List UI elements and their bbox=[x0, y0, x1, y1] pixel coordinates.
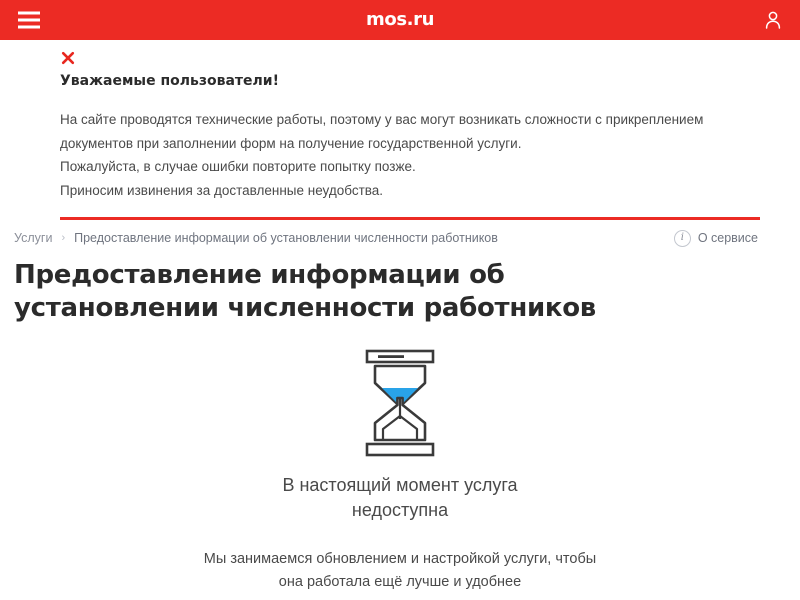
section-divider bbox=[60, 217, 760, 220]
alert-body: На сайте проводятся технические работы, … bbox=[60, 108, 760, 203]
page-title: Предоставление информации об установлени… bbox=[14, 259, 704, 326]
hamburger-bar bbox=[18, 19, 40, 22]
maintenance-alert: Уважаемые пользователи! На сайте проводя… bbox=[0, 40, 800, 220]
breadcrumb-item-current: Предоставление информации об установлени… bbox=[74, 231, 498, 245]
breadcrumb-item-services[interactable]: Услуги bbox=[14, 231, 52, 245]
site-header: mos.ru bbox=[0, 0, 800, 40]
breadcrumb: Услуги › Предоставление информации об ус… bbox=[14, 231, 498, 245]
alert-line: На сайте проводятся технические работы, … bbox=[60, 108, 740, 155]
service-unavailable-block: В настоящий момент услуга недоступна Мы … bbox=[0, 349, 800, 594]
hamburger-bar bbox=[18, 12, 40, 15]
service-unavailable-heading: В настоящий момент услуга недоступна bbox=[240, 473, 560, 522]
hamburger-menu-icon[interactable] bbox=[18, 12, 40, 29]
breadcrumb-row: Услуги › Предоставление информации об ус… bbox=[0, 220, 800, 247]
alert-line: Приносим извинения за доставленные неудо… bbox=[60, 179, 760, 203]
alert-line: Пожалуйста, в случае ошибки повторите по… bbox=[60, 155, 760, 179]
info-circle-icon: i bbox=[674, 230, 691, 247]
user-account-icon[interactable] bbox=[762, 9, 784, 31]
about-service-label: О сервисе bbox=[698, 231, 758, 245]
chevron-right-icon: › bbox=[61, 232, 65, 244]
hourglass-icon bbox=[361, 349, 439, 457]
close-x-icon[interactable] bbox=[60, 50, 76, 66]
alert-title: Уважаемые пользователи! bbox=[60, 72, 760, 90]
site-logo[interactable]: mos.ru bbox=[366, 11, 434, 29]
about-service-link[interactable]: i О сервисе bbox=[674, 230, 758, 247]
service-unavailable-subtext: Мы занимаемся обновлением и настройкой у… bbox=[190, 548, 610, 594]
hamburger-bar bbox=[18, 26, 40, 29]
